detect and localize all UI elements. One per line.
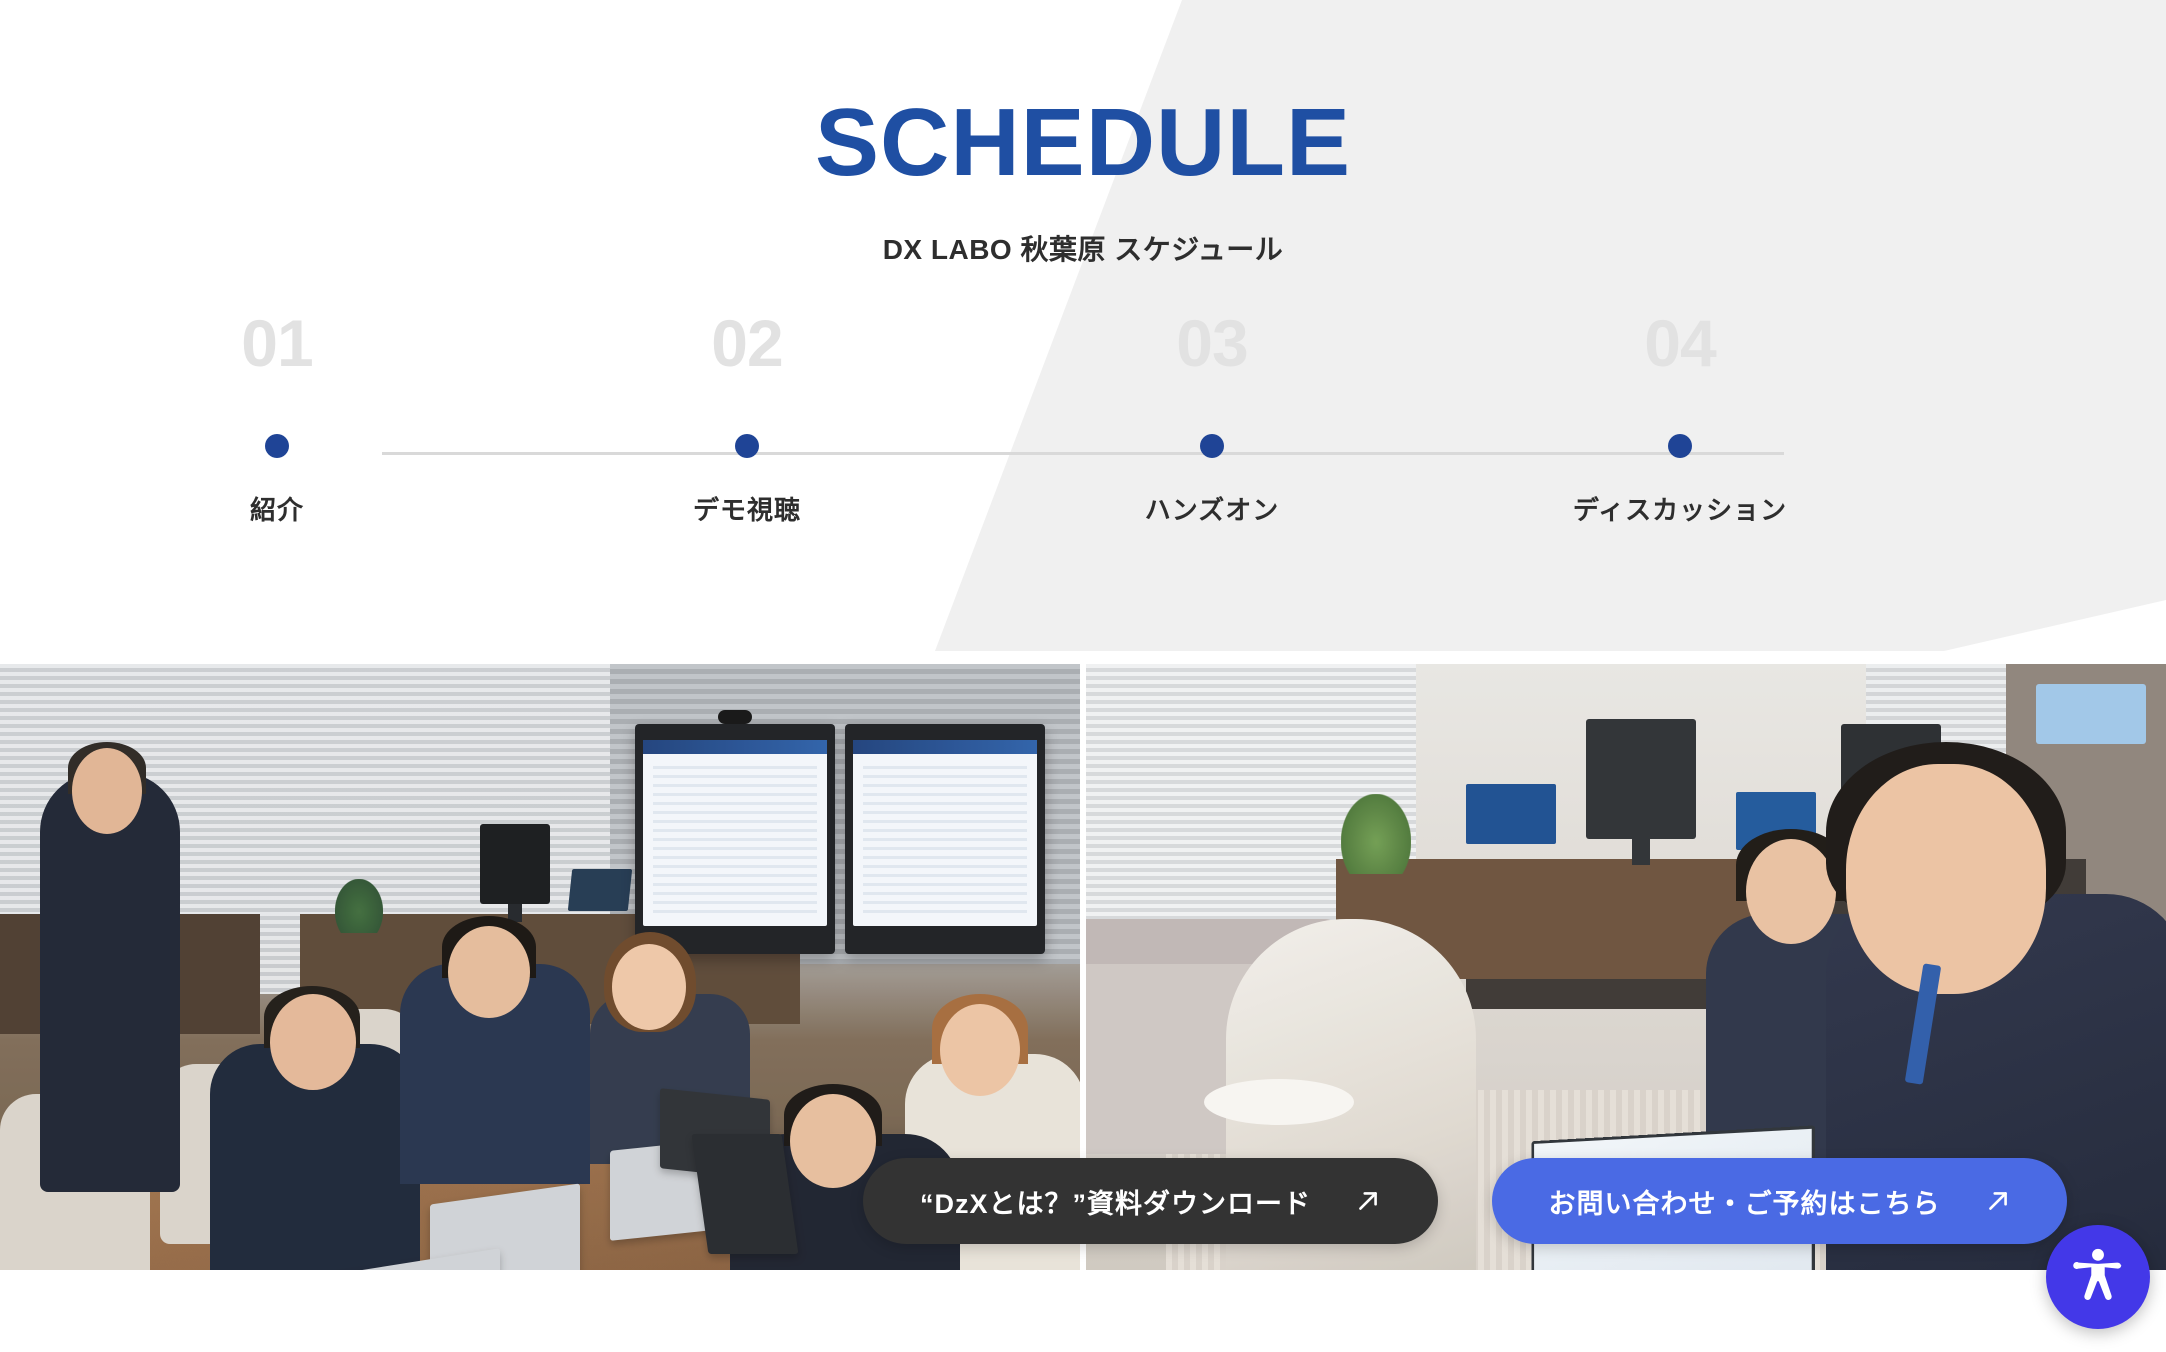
step-number: 04 xyxy=(1548,310,1812,400)
step-dot[interactable] xyxy=(265,434,289,458)
step-label: ハンズオン xyxy=(1080,490,1344,527)
schedule-page: SCHEDULE DX LABO 秋葉原 スケジュール 01 紹介 02 デモ視… xyxy=(0,0,2166,1352)
step-item-03[interactable]: 03 ハンズオン xyxy=(1080,310,1344,527)
arrow-up-right-icon xyxy=(1985,1188,2011,1214)
contact-booking-button[interactable]: お問い合わせ・ご予約はこちら xyxy=(1492,1158,2067,1244)
step-dot[interactable] xyxy=(1200,434,1224,458)
step-number: 03 xyxy=(1080,310,1344,400)
step-item-01[interactable]: 01 紹介 xyxy=(145,310,409,527)
step-dot[interactable] xyxy=(735,434,759,458)
page-subtitle: DX LABO 秋葉原 スケジュール xyxy=(0,228,2166,268)
step-number: 01 xyxy=(145,310,409,400)
page-title: SCHEDULE xyxy=(0,95,2166,191)
download-document-button[interactable]: “DzXとは？”資料ダウンロード xyxy=(863,1158,1438,1244)
step-item-04[interactable]: 04 ディスカッション xyxy=(1548,310,1812,527)
cta-button-group: “DzXとは？”資料ダウンロード お問い合わせ・ご予約はこちら xyxy=(0,1158,2166,1258)
step-item-02[interactable]: 02 デモ視聴 xyxy=(615,310,879,527)
arrow-up-right-icon xyxy=(1355,1188,1381,1214)
step-label: ディスカッション xyxy=(1548,490,1812,527)
schedule-stepper: 01 紹介 02 デモ視聴 03 ハンズオン 04 ディスカッション xyxy=(250,310,1916,590)
schedule-section: SCHEDULE DX LABO 秋葉原 スケジュール 01 紹介 02 デモ視… xyxy=(0,0,2166,660)
step-label: デモ視聴 xyxy=(615,490,879,527)
accessibility-widget-button[interactable] xyxy=(2046,1225,2150,1329)
accessibility-icon xyxy=(2067,1244,2129,1311)
contact-booking-label: お問い合わせ・ご予約はこちら xyxy=(1549,1182,1941,1221)
step-label: 紹介 xyxy=(145,490,409,527)
download-document-label: “DzXとは？”資料ダウンロード xyxy=(920,1182,1311,1221)
step-number: 02 xyxy=(615,310,879,400)
step-dot[interactable] xyxy=(1668,434,1692,458)
